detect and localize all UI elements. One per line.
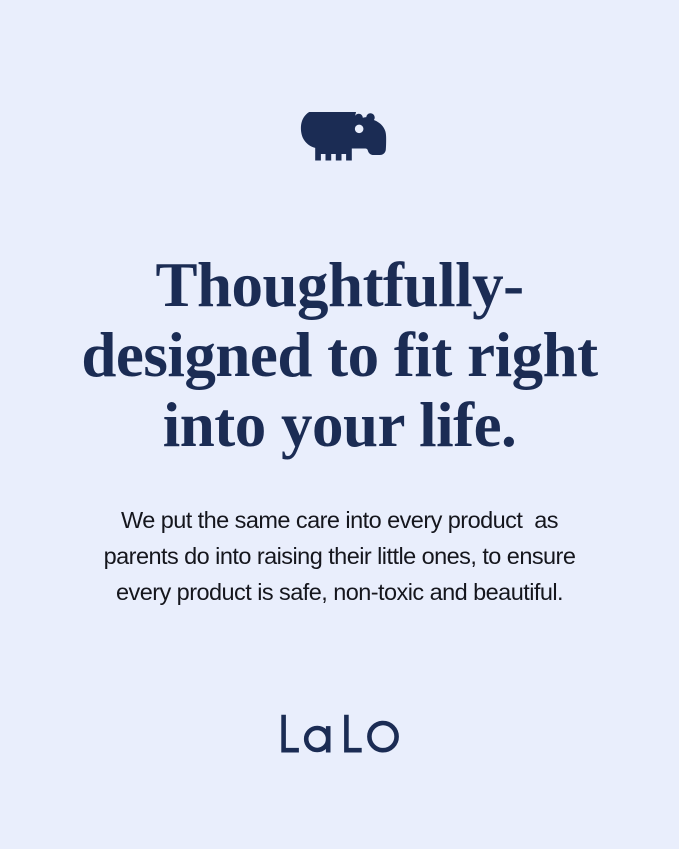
brand-wordmark: LaLO — [0, 714, 679, 754]
body-paragraph: We put the same care into every product … — [70, 502, 610, 610]
headline-line-1: Thoughtfully- — [60, 250, 620, 320]
body-line-2: parents do into raising their little one… — [70, 538, 610, 574]
hippo-icon — [293, 112, 387, 168]
page-title: Thoughtfully- designed to fit right into… — [60, 250, 620, 460]
body-line-3: every product is safe, non-toxic and bea… — [70, 574, 610, 610]
body-line-1: We put the same care into every product … — [70, 502, 610, 538]
brand-card: Thoughtfully- designed to fit right into… — [0, 0, 679, 849]
headline-line-2: designed to fit right — [60, 320, 620, 390]
lalo-wordmark — [280, 714, 400, 754]
headline-line-3: into your life. — [60, 390, 620, 460]
